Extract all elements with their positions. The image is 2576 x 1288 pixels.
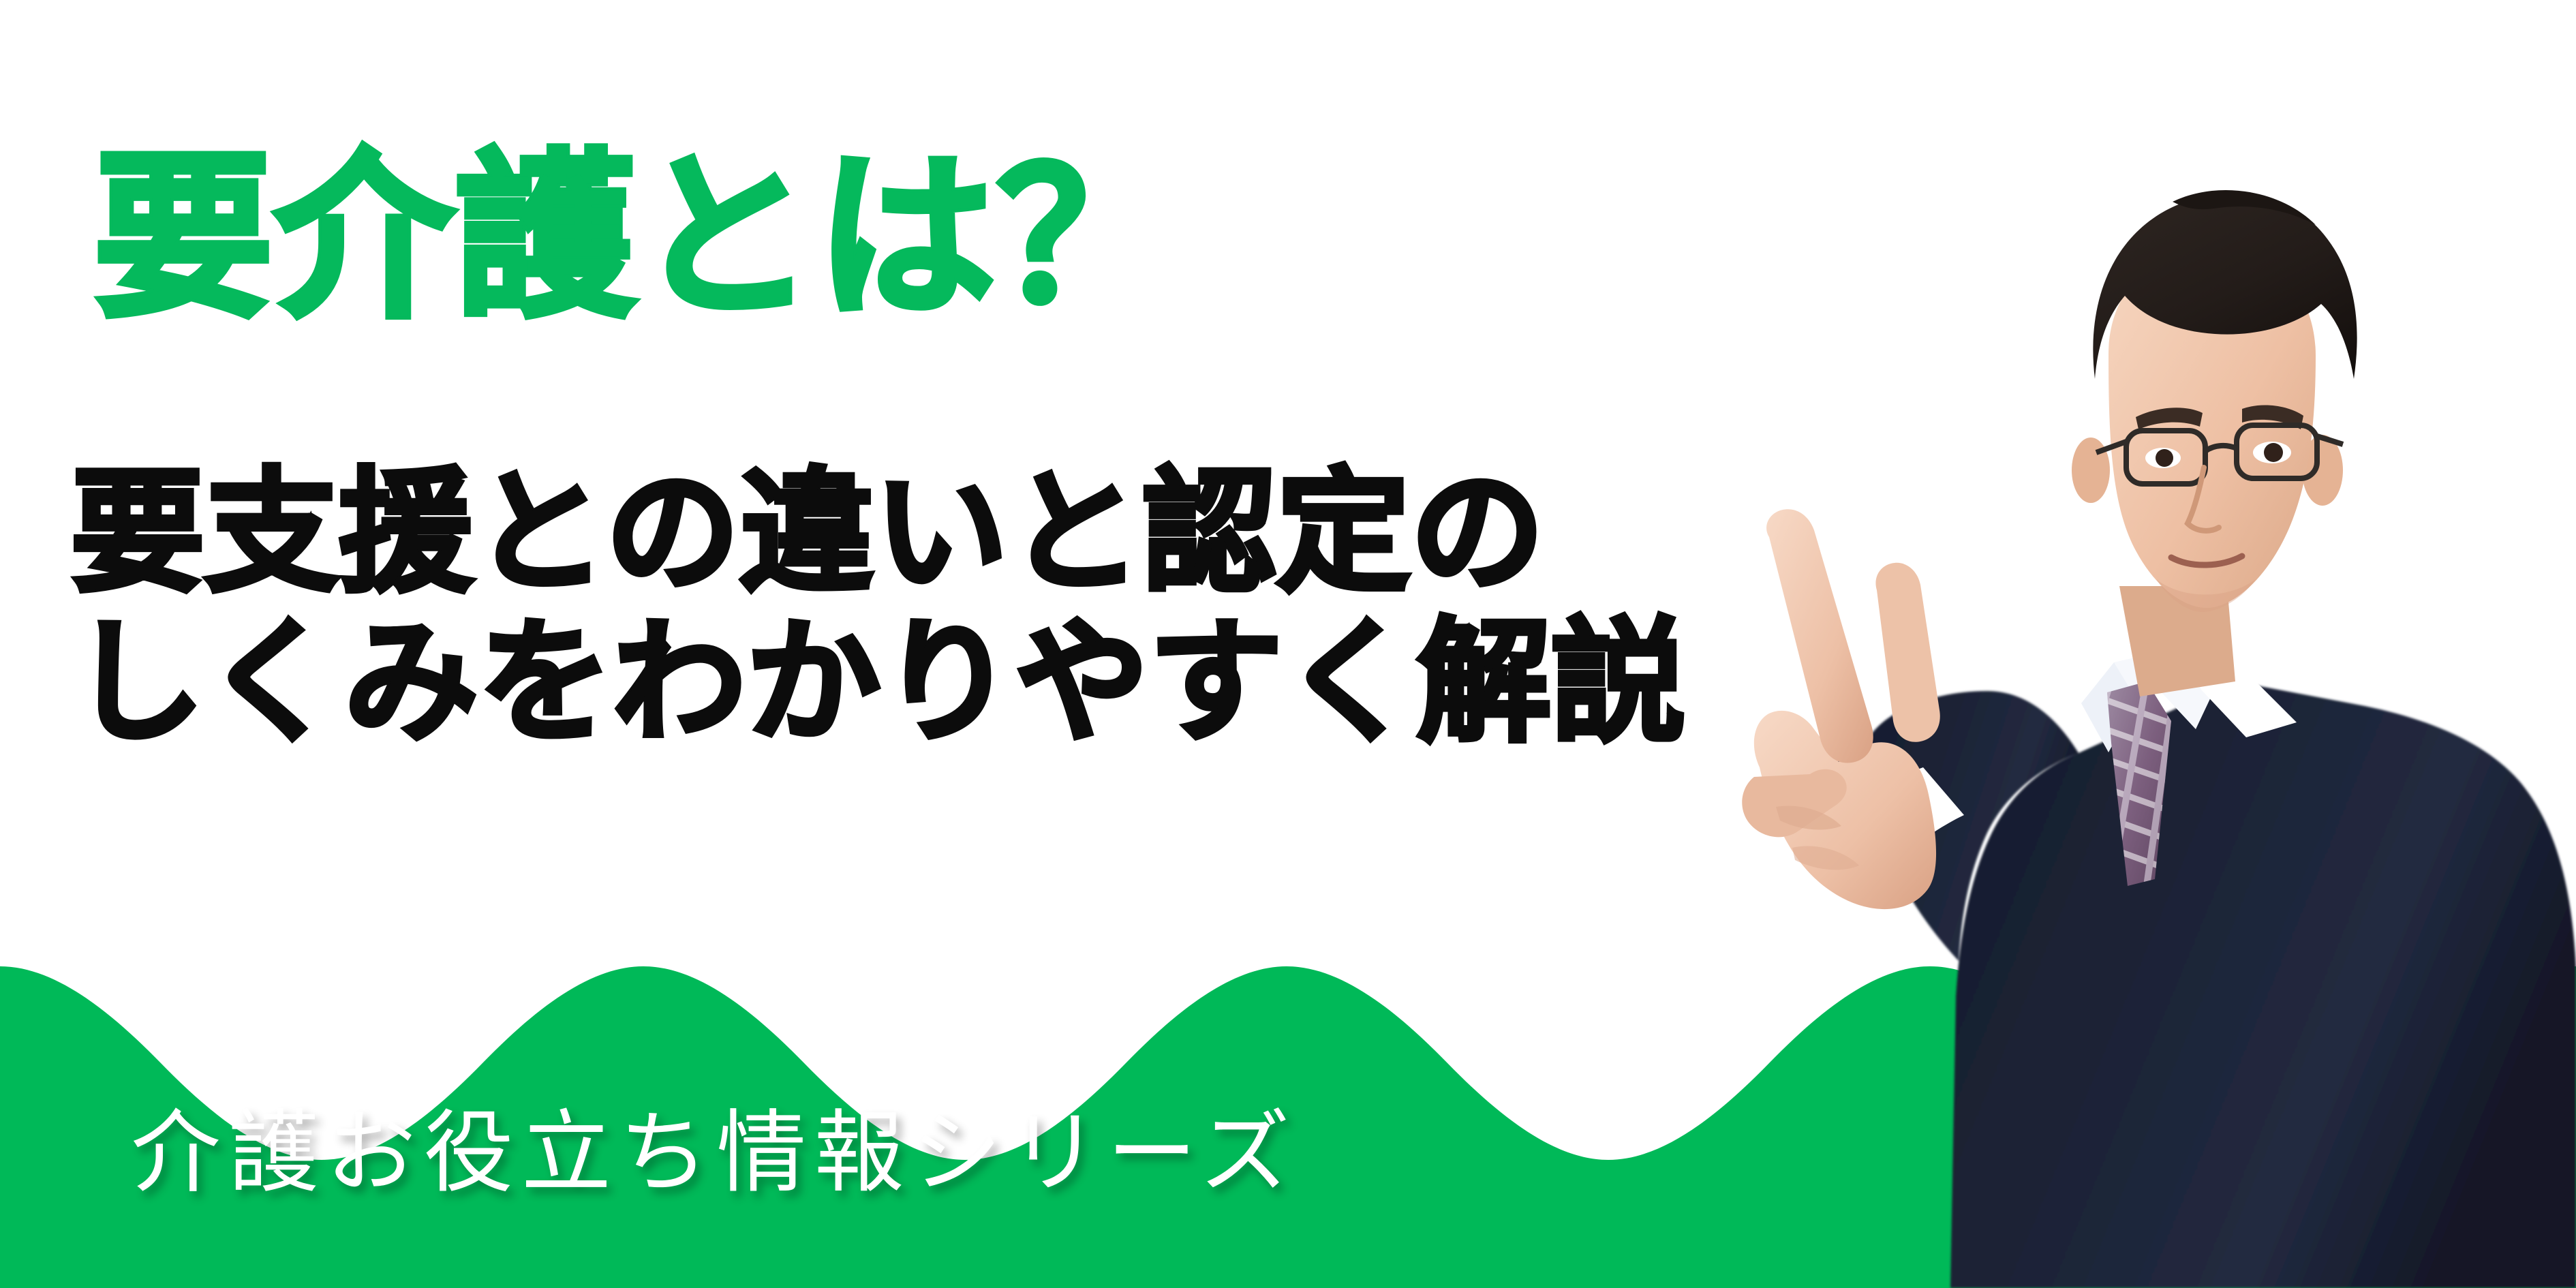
person-photo [1601,0,2576,1288]
pointing-hand [1742,509,1964,909]
page-title: 要介護とは？ [94,149,1178,327]
series-caption: 介護お役立ち情報シリーズ [131,1108,1298,1198]
subtitle: 要支援との違いと認定の しくみをわかりやすく解説 [71,458,1685,757]
subtitle-line-1: 要支援との違いと認定の [71,458,1685,608]
banner-root: 要介護とは？ 要支援との違いと認定の しくみをわかりやすく解説 [0,0,2576,1288]
suit-body [1825,681,2576,1288]
head [2072,190,2357,612]
subtitle-line-2: しくみをわかりやすく解説 [71,608,1685,758]
